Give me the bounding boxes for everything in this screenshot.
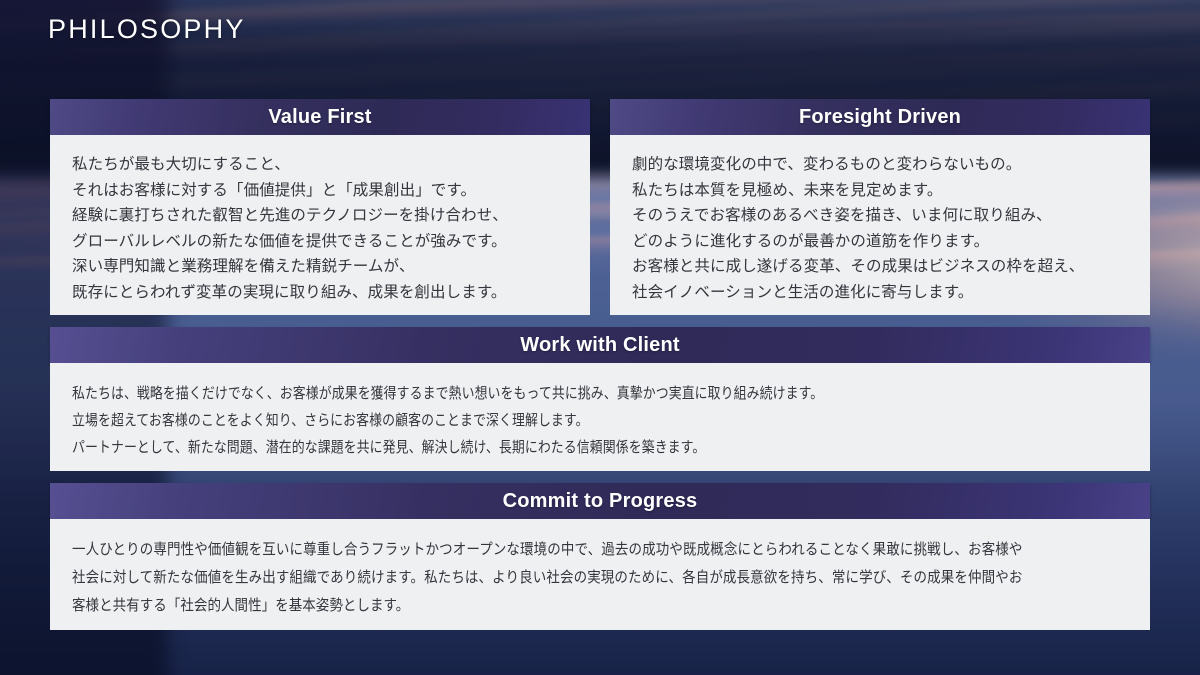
card-text-line: 深い専門知識と業務理解を備えた精鋭チームが、 <box>72 254 568 280</box>
card-body-value-first: 私たちが最も大切にすること、 それはお客様に対する「価値提供」と「成果創出」です… <box>50 135 590 315</box>
card-text-paragraph: 一人ひとりの専門性や価値観を互いに尊重し合うフラットかつオープンな環境の中で、過… <box>72 536 1022 620</box>
card-value-first: Value First 私たちが最も大切にすること、 それはお客様に対する「価値… <box>50 99 590 302</box>
card-body-work-with-client: 私たちは、戦略を描くだけでなく、お客様が成果を獲得するまで熱い想いをもって共に挑… <box>50 363 1150 471</box>
card-text-line: 経験に裏打ちされた叡智と先進のテクノロジーを掛け合わせ、 <box>72 203 568 229</box>
card-text-line: 劇的な環境変化の中で、変わるものと変わらないもの。 <box>632 152 1128 178</box>
card-commit-to-progress: Commit to Progress 一人ひとりの専門性や価値観を互いに尊重し合… <box>50 483 1150 625</box>
card-text-line: 私たちは、戦略を描くだけでなく、お客様が成果を獲得するまで熱い想いをもって共に挑… <box>72 380 980 407</box>
page-title: PHILOSOPHY <box>48 16 246 43</box>
card-text-line: お客様と共に成し遂げる変革、その成果はビジネスの枠を超え、 <box>632 254 1128 280</box>
card-header-foresight-driven: Foresight Driven <box>610 99 1150 135</box>
card-title-value-first: Value First <box>268 106 371 129</box>
card-paragraph-wrapper: 一人ひとりの専門性や価値観を互いに尊重し合うフラットかつオープンな環境の中で、過… <box>72 536 1128 620</box>
card-header-commit-to-progress: Commit to Progress <box>50 483 1150 519</box>
card-foresight-driven: Foresight Driven 劇的な環境変化の中で、変わるものと変わらないも… <box>610 99 1150 302</box>
card-title-work-with-client: Work with Client <box>520 334 680 357</box>
card-body-commit-to-progress: 一人ひとりの専門性や価値観を互いに尊重し合うフラットかつオープンな環境の中で、過… <box>50 519 1150 630</box>
card-text-line: どのように進化するのが最善かの道筋を作ります。 <box>632 229 1128 255</box>
card-text-line: そのうえでお客様のあるべき姿を描き、いま何に取り組み、 <box>632 203 1128 229</box>
card-header-work-with-client: Work with Client <box>50 327 1150 363</box>
card-text-line: 既存にとらわれず変革の実現に取り組み、成果を創出します。 <box>72 280 568 306</box>
card-text-line: 立場を超えてお客様のことをよく知り、さらにお客様の顧客のことまで深く理解します。 <box>72 407 980 434</box>
card-text-line: 私たちが最も大切にすること、 <box>72 152 568 178</box>
card-text-line: それはお客様に対する「価値提供」と「成果創出」です。 <box>72 178 568 204</box>
card-text-line: 私たちは本質を見極め、未来を見定めます。 <box>632 178 1128 204</box>
card-title-foresight-driven: Foresight Driven <box>799 106 961 129</box>
card-header-value-first: Value First <box>50 99 590 135</box>
card-text-line: 社会イノベーションと生活の進化に寄与します。 <box>632 280 1128 306</box>
card-text-line: パートナーとして、新たな問題、潜在的な課題を共に発見、解決し続け、長期にわたる信… <box>72 434 980 461</box>
card-work-with-client: Work with Client 私たちは、戦略を描くだけでなく、お客様が成果を… <box>50 327 1150 465</box>
card-text-line: グローバルレベルの新たな価値を提供できることが強みです。 <box>72 229 568 255</box>
card-body-foresight-driven: 劇的な環境変化の中で、変わるものと変わらないもの。 私たちは本質を見極め、未来を… <box>610 135 1150 315</box>
card-title-commit-to-progress: Commit to Progress <box>503 490 698 513</box>
